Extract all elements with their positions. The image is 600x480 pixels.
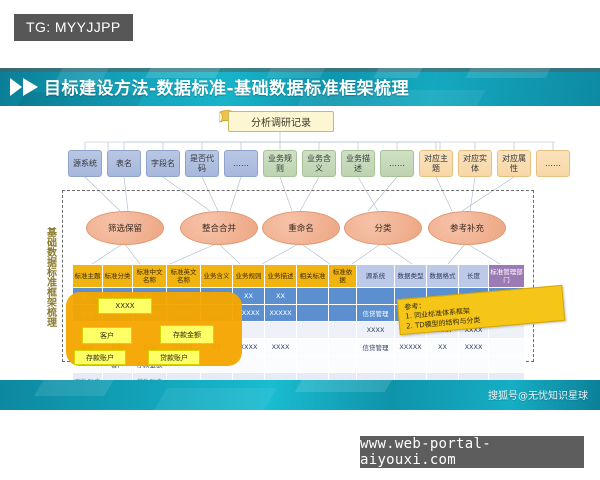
- cell: [297, 305, 329, 322]
- header-facet: [465, 68, 554, 78]
- footer-facet: [34, 380, 116, 396]
- slide-header-band: 目标建设方法-数据标准-基础数据标准框架梳理: [0, 68, 600, 106]
- cell: [357, 356, 395, 373]
- col-data-type[interactable]: 数据类型: [395, 265, 427, 288]
- tg-watermark-tag: TG: MYYJJPP: [14, 14, 133, 41]
- cell: [297, 288, 329, 305]
- cell: [427, 356, 459, 373]
- chip-mapped-attribute[interactable]: 对应属性: [497, 150, 531, 177]
- cell: [329, 322, 357, 339]
- cell: [265, 356, 297, 373]
- cell: [265, 322, 297, 339]
- chip-is-code[interactable]: 是否代码: [185, 150, 219, 177]
- cell: XX: [265, 288, 297, 305]
- cell: 信贷管理: [357, 339, 395, 356]
- col-standard-cn-name[interactable]: 标准中文名称: [133, 265, 167, 288]
- cell: [489, 356, 525, 373]
- col-business-rule[interactable]: 业务规则: [233, 265, 265, 288]
- chip-orange-ellipsis[interactable]: ……: [536, 150, 570, 177]
- col-length[interactable]: 长度: [459, 265, 489, 288]
- cell: XXXX: [357, 322, 395, 339]
- sohu-watermark: 搜狐号@无忧知识星球: [488, 387, 588, 402]
- annotation-box[interactable]: 客户: [82, 327, 132, 344]
- process-merge[interactable]: 整合合并: [180, 211, 258, 245]
- chip-blue-ellipsis[interactable]: ……: [224, 150, 258, 177]
- footer-facet: [153, 388, 277, 410]
- process-filter-retain[interactable]: 筛选保留: [86, 211, 164, 245]
- chip-business-desc[interactable]: 业务描述: [341, 150, 375, 177]
- cell: XXXXX: [265, 305, 297, 322]
- chip-business-rule[interactable]: 业务规则: [263, 150, 297, 177]
- annotation-box[interactable]: XXXX: [98, 298, 152, 314]
- col-data-format[interactable]: 数据格式: [427, 265, 459, 288]
- double-triangle-icon: [10, 78, 40, 96]
- col-related-standard[interactable]: 相关标准: [297, 265, 329, 288]
- page-title: 目标建设方法-数据标准-基础数据标准框架梳理: [44, 74, 409, 99]
- col-standard-subject[interactable]: 标准主题: [73, 265, 103, 288]
- cell: [329, 339, 357, 356]
- cell: 信贷管理: [357, 305, 395, 322]
- col-standard-category[interactable]: 标准分类: [103, 265, 133, 288]
- col-business-meaning[interactable]: 业务含义: [201, 265, 233, 288]
- col-standard-en-name[interactable]: 标准英文名称: [167, 265, 201, 288]
- table-header-row: 标准主题 标准分类 标准中文名称 标准英文名称 业务含义 业务规则 业务描述 相…: [73, 265, 525, 288]
- chip-mapped-entity[interactable]: 对应实体: [458, 150, 492, 177]
- chip-green-ellipsis[interactable]: ……: [380, 150, 414, 177]
- cell: [357, 288, 395, 305]
- col-source-system[interactable]: 源系统: [357, 265, 395, 288]
- cell: XXXXX: [395, 339, 427, 356]
- process-rename[interactable]: 重命名: [262, 211, 340, 245]
- annotation-box[interactable]: 贷款账户: [148, 350, 200, 365]
- cell: XXXX: [459, 339, 489, 356]
- cell: [395, 356, 427, 373]
- cell: XXXX: [265, 339, 297, 356]
- cell: [329, 356, 357, 373]
- cell: [459, 356, 489, 373]
- framework-vertical-label: 基础数据标准框架梳理: [40, 198, 59, 356]
- cell: [489, 339, 525, 356]
- cell: [329, 305, 357, 322]
- footer-facet: [295, 380, 395, 392]
- url-watermark-text: www.web-portal-aiyouxi.com: [360, 436, 584, 468]
- col-standard-basis[interactable]: 标准依据: [329, 265, 357, 288]
- chip-table-name[interactable]: 表名: [107, 150, 141, 177]
- chip-business-meaning[interactable]: 业务含义: [302, 150, 336, 177]
- cell: XX: [427, 339, 459, 356]
- cell: [297, 339, 329, 356]
- col-business-desc[interactable]: 业务描述: [265, 265, 297, 288]
- cell: [297, 356, 329, 373]
- col-managing-dept[interactable]: 标准管理部门: [489, 265, 525, 288]
- annotation-box[interactable]: 存款金额: [160, 325, 214, 344]
- process-classify[interactable]: 分类: [344, 211, 422, 245]
- url-watermark-bar: www.web-portal-aiyouxi.com: [360, 436, 584, 468]
- cell: [297, 322, 329, 339]
- cell: [329, 288, 357, 305]
- chip-field-name[interactable]: 字段名: [146, 150, 180, 177]
- process-reference-supplement[interactable]: 参考补充: [428, 211, 506, 245]
- annotation-box[interactable]: 存款账户: [74, 350, 126, 365]
- chip-mapped-subject[interactable]: 对应主题: [419, 150, 453, 177]
- chip-source-system[interactable]: 源系统: [68, 150, 102, 177]
- analysis-record-callout[interactable]: 分析调研记录: [228, 111, 334, 132]
